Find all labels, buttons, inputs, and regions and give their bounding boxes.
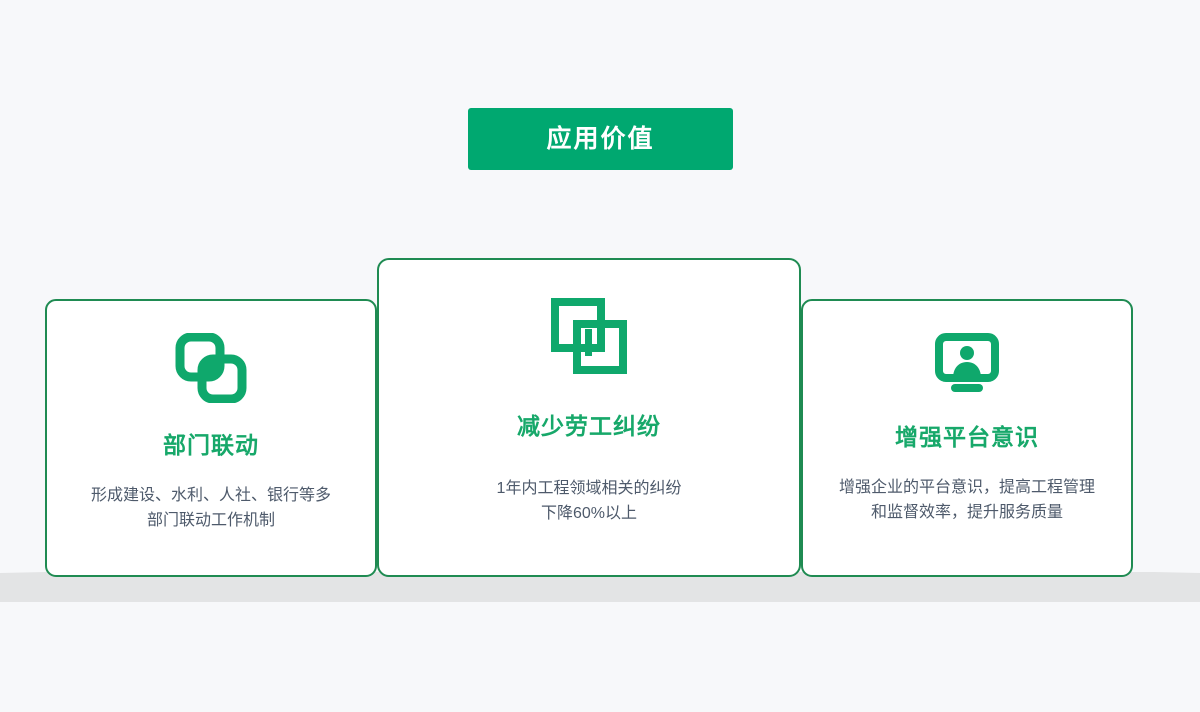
value-card-department-linkage[interactable]: 部门联动 形成建设、水利、人社、银行等多 部门联动工作机制	[45, 299, 377, 577]
monitor-user-icon	[934, 333, 1000, 400]
section-title-text: 应用价值	[546, 127, 654, 152]
card-description: 增强企业的平台意识，提高工程管理 和监督效率，提升服务质量	[822, 475, 1112, 525]
card-title: 部门联动	[163, 434, 259, 457]
dispute-alert-squares-icon	[550, 298, 628, 381]
value-card-labor-dispute[interactable]: 减少劳工纠纷 1年内工程领域相关的纠纷 下降60%以上	[377, 258, 801, 577]
card-description: 1年内工程领域相关的纠纷 下降60%以上	[419, 476, 759, 526]
card-title: 减少劳工纠纷	[517, 415, 661, 438]
overlapping-rounded-squares-icon	[175, 333, 247, 408]
value-card-platform-awareness[interactable]: 增强平台意识 增强企业的平台意识，提高工程管理 和监督效率，提升服务质量	[801, 299, 1133, 577]
application-value-section: 应用价值 部门联动 形成建设、水利、人社、银行等多 部门联动工作机制 增强平台意…	[0, 0, 1200, 712]
card-title: 增强平台意识	[895, 426, 1039, 449]
section-title-banner: 应用价值	[468, 108, 733, 170]
card-description: 形成建设、水利、人社、银行等多 部门联动工作机制	[66, 483, 356, 533]
